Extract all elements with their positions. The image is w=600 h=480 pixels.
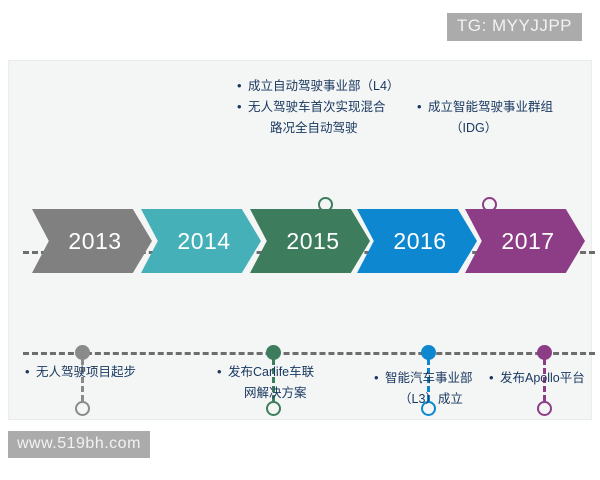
event-2016-line-2: （L3）成立	[385, 389, 473, 410]
watermark-bottom-left: www.519bh.com	[8, 431, 150, 458]
connector-ring-2013	[75, 401, 90, 416]
event-2016-line-1: 智能汽车事业部	[385, 368, 473, 389]
event-2014-line-1: 发布Carlife车联	[228, 362, 314, 383]
timeline-axis-bottom	[23, 352, 595, 355]
year-label-2013: 2013	[68, 228, 121, 255]
axis-dot-2013	[75, 345, 90, 360]
event-2013-line-1: 无人驾驶项目起步	[36, 362, 136, 383]
event-label-2014: 发布Carlife车联 网解决方案	[228, 362, 314, 404]
event-label-2017-bottom: 发布Apollo平台	[500, 368, 585, 389]
event-2015-line-2: 无人驾驶车首次实现混合	[248, 97, 399, 118]
event-label-2017-top: 成立智能驾驶事业群组 （IDG）	[428, 97, 553, 139]
year-chevron-2015[interactable]: 2015	[250, 209, 370, 273]
event-2015-line-1: 成立自动驾驶事业部（L4）	[248, 76, 399, 97]
year-label-2016: 2016	[393, 228, 446, 255]
axis-dot-2017-bottom	[537, 345, 552, 360]
event-2014-line-2: 网解决方案	[228, 383, 314, 404]
year-chevron-row: 2013 2014 2015 2016 2017	[0, 209, 600, 273]
timeline-infographic: TG: MYYJJPP	[0, 0, 600, 480]
event-2017-bottom-line-1: 发布Apollo平台	[500, 368, 585, 389]
year-chevron-2016[interactable]: 2016	[357, 209, 477, 273]
year-chevron-2013[interactable]: 2013	[32, 209, 152, 273]
year-label-2015: 2015	[286, 228, 339, 255]
year-label-2017: 2017	[501, 228, 554, 255]
event-2017-top-line-1: 成立智能驾驶事业群组	[428, 97, 553, 118]
axis-dot-2014	[266, 345, 281, 360]
event-label-2015: 成立自动驾驶事业部（L4） 无人驾驶车首次实现混合 路况全自动驾驶	[248, 76, 399, 139]
axis-dot-2016	[421, 345, 436, 360]
event-2017-top-line-2: （IDG）	[428, 118, 553, 139]
year-label-2014: 2014	[177, 228, 230, 255]
watermark-top-right: TG: MYYJJPP	[447, 13, 582, 41]
event-2015-line-3: 路况全自动驾驶	[248, 118, 399, 139]
connector-ring-2017-bottom	[537, 401, 552, 416]
event-label-2013: 无人驾驶项目起步	[36, 362, 136, 383]
year-chevron-2014[interactable]: 2014	[141, 209, 261, 273]
year-chevron-2017[interactable]: 2017	[465, 209, 585, 273]
event-label-2016: 智能汽车事业部 （L3）成立	[385, 368, 473, 410]
